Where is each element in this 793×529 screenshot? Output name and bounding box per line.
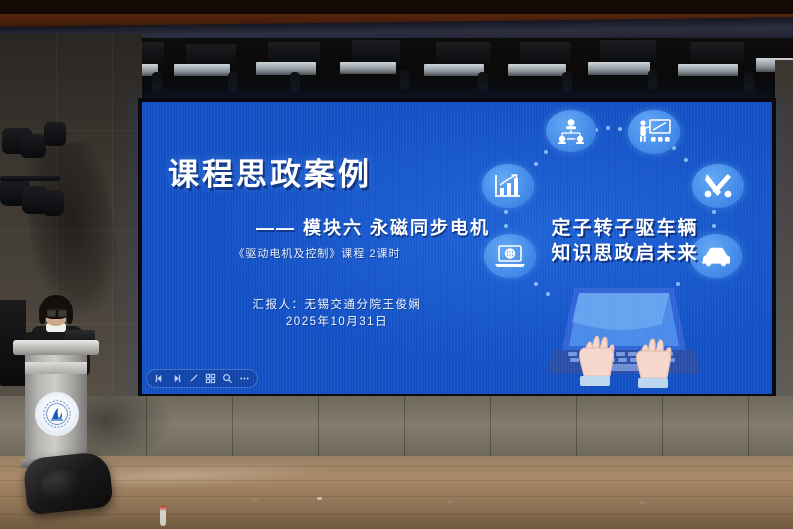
- slide-infographic: 定子转子驱车辆 知识思政启未来: [476, 106, 766, 394]
- presentation-date-line: 2025年10月31日: [178, 314, 496, 331]
- stage-lamp: [352, 40, 400, 64]
- slide-overview-button[interactable]: [205, 373, 216, 384]
- side-stage-lamp: [42, 190, 64, 216]
- stage-lamp-yoke: [562, 72, 572, 92]
- more-options-button[interactable]: [239, 373, 250, 384]
- stage-lamp-lens: [174, 64, 230, 76]
- slide-text-block: 课程思政案例 —— 模块六 永磁同步电机 《驱动电机及控制》课程 2课时 汇报人…: [156, 158, 496, 332]
- teacher-whiteboard-icon: [628, 110, 680, 154]
- slide-subtitle-course: 《驱动电机及控制》课程 2课时: [156, 245, 496, 261]
- slide-presenter-info: 汇报人：无锡交通分院王俊娴 2025年10月31日: [156, 297, 496, 332]
- floor-wedge-speaker: [22, 451, 113, 516]
- side-stage-lamp: [20, 134, 46, 158]
- institution-emblem: [35, 392, 79, 436]
- previous-slide-button[interactable]: [154, 373, 165, 384]
- stage-lamp-yoke: [152, 72, 162, 92]
- stage-lamp-yoke: [228, 72, 238, 92]
- floor-marker: [317, 497, 322, 500]
- stage-lamp-lens: [340, 62, 396, 74]
- stage-lamp-lens: [256, 62, 316, 75]
- stage-lamp-lens: [424, 64, 484, 76]
- stage-lamp: [520, 42, 570, 66]
- water-bottle: [160, 506, 166, 526]
- stage-lamp-yoke: [290, 72, 300, 92]
- pen-tool-button[interactable]: [188, 373, 199, 384]
- slide-title: 课程思政案例: [156, 158, 496, 192]
- wall-shadow: [19, 139, 126, 319]
- stage-lamp: [690, 42, 744, 66]
- infographic-headline: 定子转子驱车辆 知识思政启未来: [520, 216, 730, 266]
- lectern-accent-band: [25, 362, 87, 374]
- floor-marker: ▭: [640, 500, 645, 506]
- slide-subtitle-module: —— 模块六 永磁同步电机: [156, 214, 496, 240]
- stage-lamp-lens: [508, 64, 566, 76]
- led-screen: 课程思政案例 —— 模块六 永磁同步电机 《驱动电机及控制》课程 2课时 汇报人…: [142, 102, 772, 394]
- presenter-name-line: 汇报人：无锡交通分院王俊娴: [178, 297, 496, 314]
- screenshot-root: 课程思政案例 —— 模块六 永磁同步电机 《驱动电机及控制》课程 2课时 汇报人…: [0, 0, 793, 529]
- bar-chart-growth-icon: [482, 164, 534, 208]
- presenter-hair-left: [39, 304, 46, 324]
- infographic-headline-line2: 知识思政启未来: [520, 241, 730, 266]
- stage-lamp-yoke: [400, 70, 410, 90]
- lamp-rail: [0, 176, 60, 181]
- presentation-toolbar[interactable]: [146, 369, 258, 388]
- zoom-button[interactable]: [222, 373, 233, 384]
- right-wall: [775, 60, 793, 416]
- stage-lamp-yoke: [478, 72, 488, 92]
- stage-lamp-yoke: [648, 70, 658, 90]
- stage-lamp-lens: [678, 64, 738, 76]
- stage-lamp-yoke: [744, 72, 754, 92]
- floor-marker: ▭: [448, 499, 453, 505]
- ceiling-shadow: [0, 0, 793, 14]
- infographic-headline-line1: 定子转子驱车辆: [520, 216, 730, 241]
- lectern-top: [13, 340, 99, 355]
- org-chart-people-icon: [546, 110, 596, 152]
- laptop-with-hands-illustration: [544, 284, 704, 392]
- stage-lamp-lens: [588, 62, 650, 75]
- presenter-hair-right: [66, 304, 73, 324]
- presenter-glasses: [47, 309, 65, 315]
- tools-wrench-screwdriver-icon: [692, 164, 744, 208]
- floor-marker: ▭: [253, 498, 258, 504]
- next-slide-button[interactable]: [171, 373, 182, 384]
- side-stage-lamp: [44, 122, 66, 146]
